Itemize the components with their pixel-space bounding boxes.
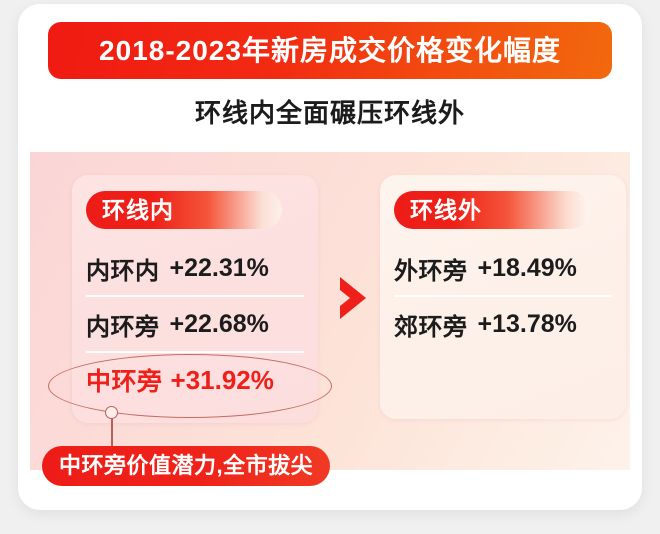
row-label: 内环内 [86,251,160,286]
comparison-stage: 环线内 内环内 +22.31% 内环旁 +22.68% 中环旁 +31.92% [30,152,630,470]
row-label: 内环旁 [86,307,160,342]
callout-pill: 中环旁价值潜力,全市拔尖 [42,446,330,486]
table-row-highlighted: 中环旁 +31.92% [86,351,304,407]
group-card-inner-ring: 环线内 内环内 +22.31% 内环旁 +22.68% 中环旁 +31.92% [72,175,318,423]
group-badge-label: 环线外 [394,199,482,222]
greater-than-icon [334,274,372,322]
callout-label: 中环旁价值潜力,全市拔尖 [59,455,313,477]
table-row: 内环旁 +22.68% [86,295,304,351]
table-row: 郊环旁 +13.78% [394,295,612,351]
title-banner: 2018-2023年新房成交价格变化幅度 [48,22,612,79]
subtitle: 环线内全面碾压环线外 [18,97,642,131]
group-badge-outer-ring: 环线外 [394,191,590,229]
row-label: 郊环旁 [394,307,468,342]
group-card-outer-ring: 环线外 外环旁 +18.49% 郊环旁 +13.78% [380,175,626,419]
table-row: 内环内 +22.31% [86,241,304,295]
row-value: +22.68% [170,310,269,339]
row-label: 中环旁 [86,362,163,398]
group-badge-inner-ring: 环线内 [86,191,282,229]
page-title: 2018-2023年新房成交价格变化幅度 [99,37,561,65]
row-value: +31.92% [171,365,274,396]
row-value: +13.78% [478,310,577,339]
row-value: +22.31% [170,254,269,283]
row-label: 外环旁 [394,251,468,286]
data-row-list-outer-ring: 外环旁 +18.49% 郊环旁 +13.78% [394,241,612,351]
data-row-list-inner-ring: 内环内 +22.31% 内环旁 +22.68% 中环旁 +31.92% [86,241,304,407]
row-value: +18.49% [478,254,577,283]
group-badge-label: 环线内 [86,199,174,222]
infographic-poster: 2018-2023年新房成交价格变化幅度 环线内全面碾压环线外 环线内 内环内 … [18,4,642,510]
table-row: 外环旁 +18.49% [394,241,612,295]
